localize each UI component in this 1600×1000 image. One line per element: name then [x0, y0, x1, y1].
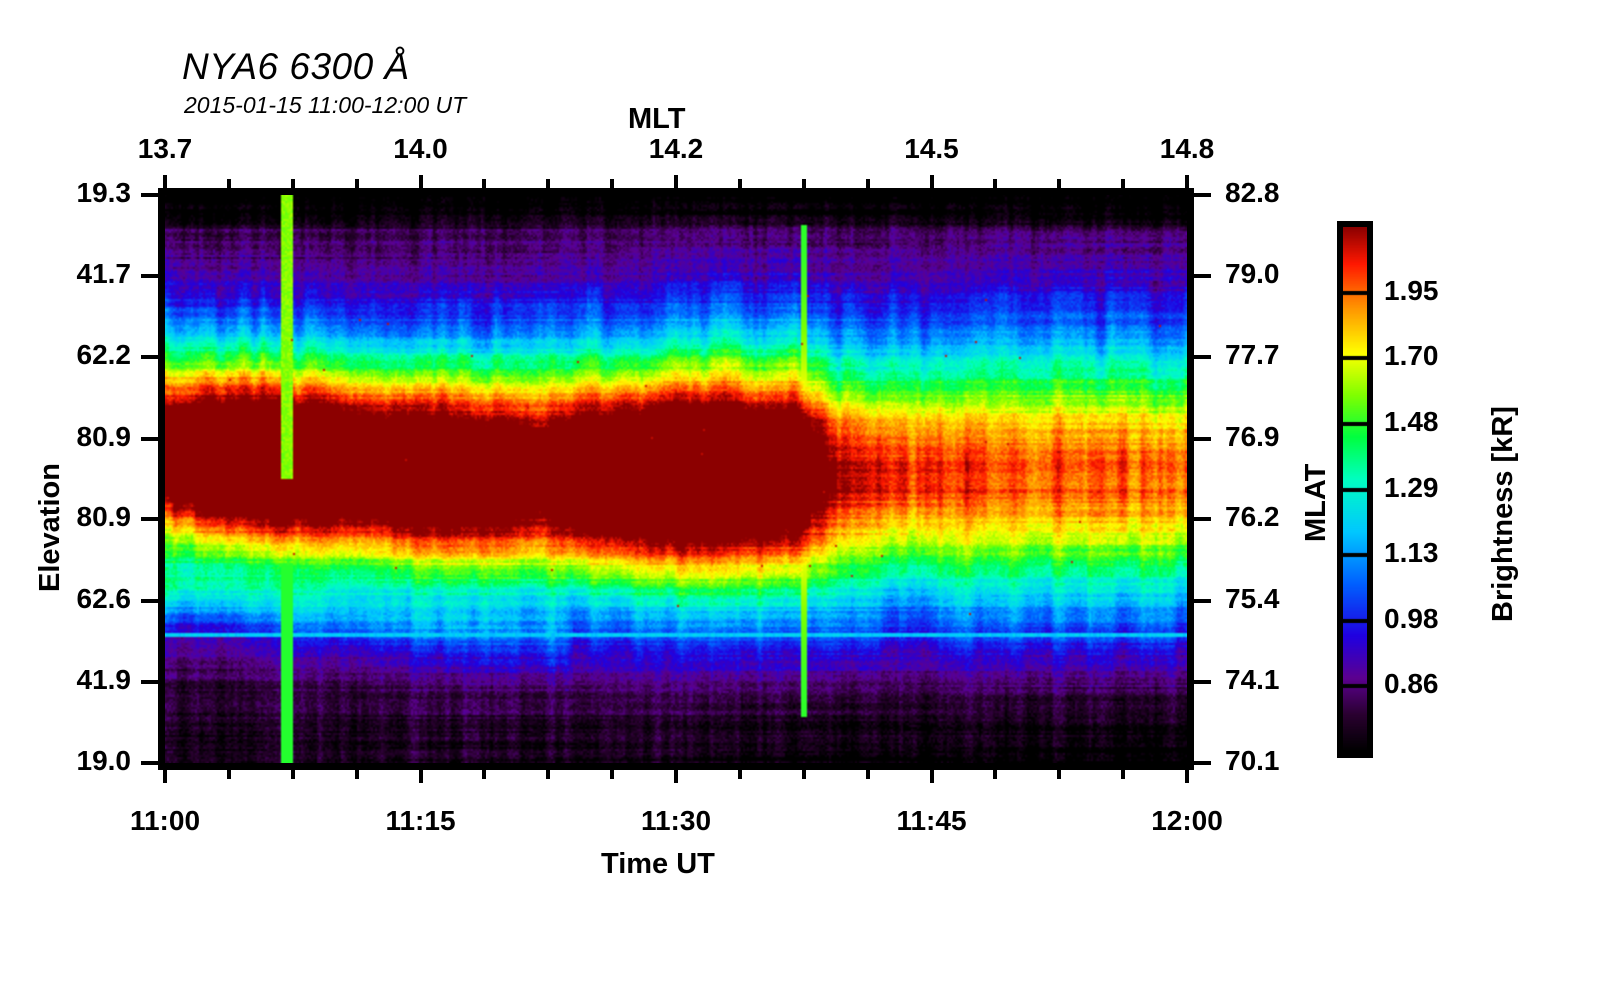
colorbar-gradient — [1343, 227, 1367, 752]
tick-top-minor — [291, 179, 295, 188]
ticklabel-elevation: 41.7 — [0, 258, 131, 290]
colorbar-ticklabel: 1.95 — [1384, 275, 1439, 307]
tick-left-major — [141, 761, 158, 765]
axis-title-time: Time UT — [601, 848, 715, 881]
tick-top-minor — [1057, 179, 1061, 188]
colorbar-ticklabel: 1.70 — [1384, 340, 1439, 372]
ticklabel-mlt: 14.0 — [393, 133, 448, 165]
ticklabel-time: 12:00 — [1151, 805, 1223, 837]
axis-title-mlat: MLAT — [1300, 464, 1333, 542]
tick-top-minor — [738, 179, 742, 188]
tick-left-major — [141, 517, 158, 521]
tick-bottom-major — [930, 770, 934, 783]
tick-top-minor — [227, 179, 231, 188]
ticklabel-elevation: 19.3 — [0, 177, 131, 209]
tick-right-major — [1194, 437, 1211, 441]
plot-subtitle: 2015-01-15 11:00-12:00 UT — [184, 92, 466, 119]
ticklabel-mlat: 70.1 — [1225, 745, 1280, 777]
tick-bottom-minor — [738, 770, 742, 779]
tick-left-major — [141, 680, 158, 684]
tick-top-minor — [802, 179, 806, 188]
ticklabel-mlat: 75.4 — [1225, 583, 1280, 615]
axis-spine-bottom — [158, 763, 1194, 770]
tick-right-major — [1194, 517, 1211, 521]
tick-top-major — [1185, 175, 1189, 188]
tick-bottom-major — [163, 770, 167, 783]
ticklabel-time: 11:45 — [896, 805, 966, 837]
ticklabel-mlat: 76.2 — [1225, 501, 1280, 533]
ticklabel-elevation: 62.6 — [0, 583, 131, 615]
tick-top-minor — [866, 179, 870, 188]
tick-right-major — [1194, 761, 1211, 765]
tick-bottom-major — [1185, 770, 1189, 783]
ticklabel-time: 11:15 — [385, 805, 455, 837]
tick-right-major — [1194, 355, 1211, 359]
ticklabel-mlat: 76.9 — [1225, 421, 1280, 453]
ticklabel-mlt: 13.7 — [138, 133, 193, 165]
tick-top-minor — [482, 179, 486, 188]
ticklabel-elevation: 19.0 — [0, 745, 131, 777]
ticklabel-elevation: 62.2 — [0, 339, 131, 371]
tick-right-major — [1194, 193, 1211, 197]
tick-top-minor — [546, 179, 550, 188]
keogram-plot-area — [165, 195, 1187, 763]
tick-top-minor — [355, 179, 359, 188]
tick-bottom-minor — [355, 770, 359, 779]
axis-spine-left — [158, 188, 165, 770]
tick-bottom-minor — [227, 770, 231, 779]
colorbar-ticklabel: 1.48 — [1384, 406, 1439, 438]
ticklabel-mlat: 74.1 — [1225, 664, 1280, 696]
ticklabel-mlat: 79.0 — [1225, 258, 1280, 290]
tick-bottom-minor — [546, 770, 550, 779]
ticklabel-mlt: 14.5 — [904, 133, 959, 165]
tick-bottom-minor — [610, 770, 614, 779]
tick-bottom-major — [674, 770, 678, 783]
tick-top-major — [163, 175, 167, 188]
ticklabel-time: 11:30 — [641, 805, 711, 837]
tick-right-major — [1194, 680, 1211, 684]
keogram-image — [165, 195, 1187, 763]
axis-spine-right — [1187, 188, 1194, 770]
ticklabel-mlat: 82.8 — [1225, 177, 1280, 209]
ticklabel-time: 11:00 — [130, 805, 200, 837]
ticklabel-mlat: 77.7 — [1225, 339, 1280, 371]
tick-left-major — [141, 274, 158, 278]
colorbar-ticklabel: 1.13 — [1384, 537, 1439, 569]
ticklabel-mlt: 14.2 — [649, 133, 704, 165]
ticklabel-elevation: 41.9 — [0, 664, 131, 696]
axis-title-mlt: MLT — [628, 103, 685, 136]
tick-bottom-minor — [1057, 770, 1061, 779]
tick-bottom-major — [419, 770, 423, 783]
tick-right-major — [1194, 274, 1211, 278]
tick-right-major — [1194, 599, 1211, 603]
colorbar-ticklabel: 1.29 — [1384, 472, 1439, 504]
plot-title: NYA6 6300 Å — [182, 46, 410, 88]
colorbar-ticklabel: 0.86 — [1384, 668, 1439, 700]
axis-spine-top — [158, 188, 1194, 195]
tick-bottom-minor — [482, 770, 486, 779]
tick-top-minor — [1121, 179, 1125, 188]
tick-bottom-minor — [1121, 770, 1125, 779]
tick-top-minor — [610, 179, 614, 188]
ticklabel-mlt: 14.8 — [1160, 133, 1215, 165]
tick-top-major — [674, 175, 678, 188]
ticklabel-elevation: 80.9 — [0, 501, 131, 533]
colorbar-ticklabel: 0.98 — [1384, 603, 1439, 635]
tick-top-major — [930, 175, 934, 188]
tick-left-major — [141, 437, 158, 441]
tick-left-major — [141, 355, 158, 359]
axis-title-brightness: Brightness [kR] — [1487, 406, 1520, 622]
tick-bottom-minor — [866, 770, 870, 779]
tick-left-major — [141, 193, 158, 197]
tick-top-minor — [993, 179, 997, 188]
tick-left-major — [141, 599, 158, 603]
tick-bottom-minor — [802, 770, 806, 779]
tick-bottom-minor — [993, 770, 997, 779]
colorbar — [1337, 221, 1373, 758]
tick-bottom-minor — [291, 770, 295, 779]
ticklabel-elevation: 80.9 — [0, 421, 131, 453]
tick-top-major — [419, 175, 423, 188]
